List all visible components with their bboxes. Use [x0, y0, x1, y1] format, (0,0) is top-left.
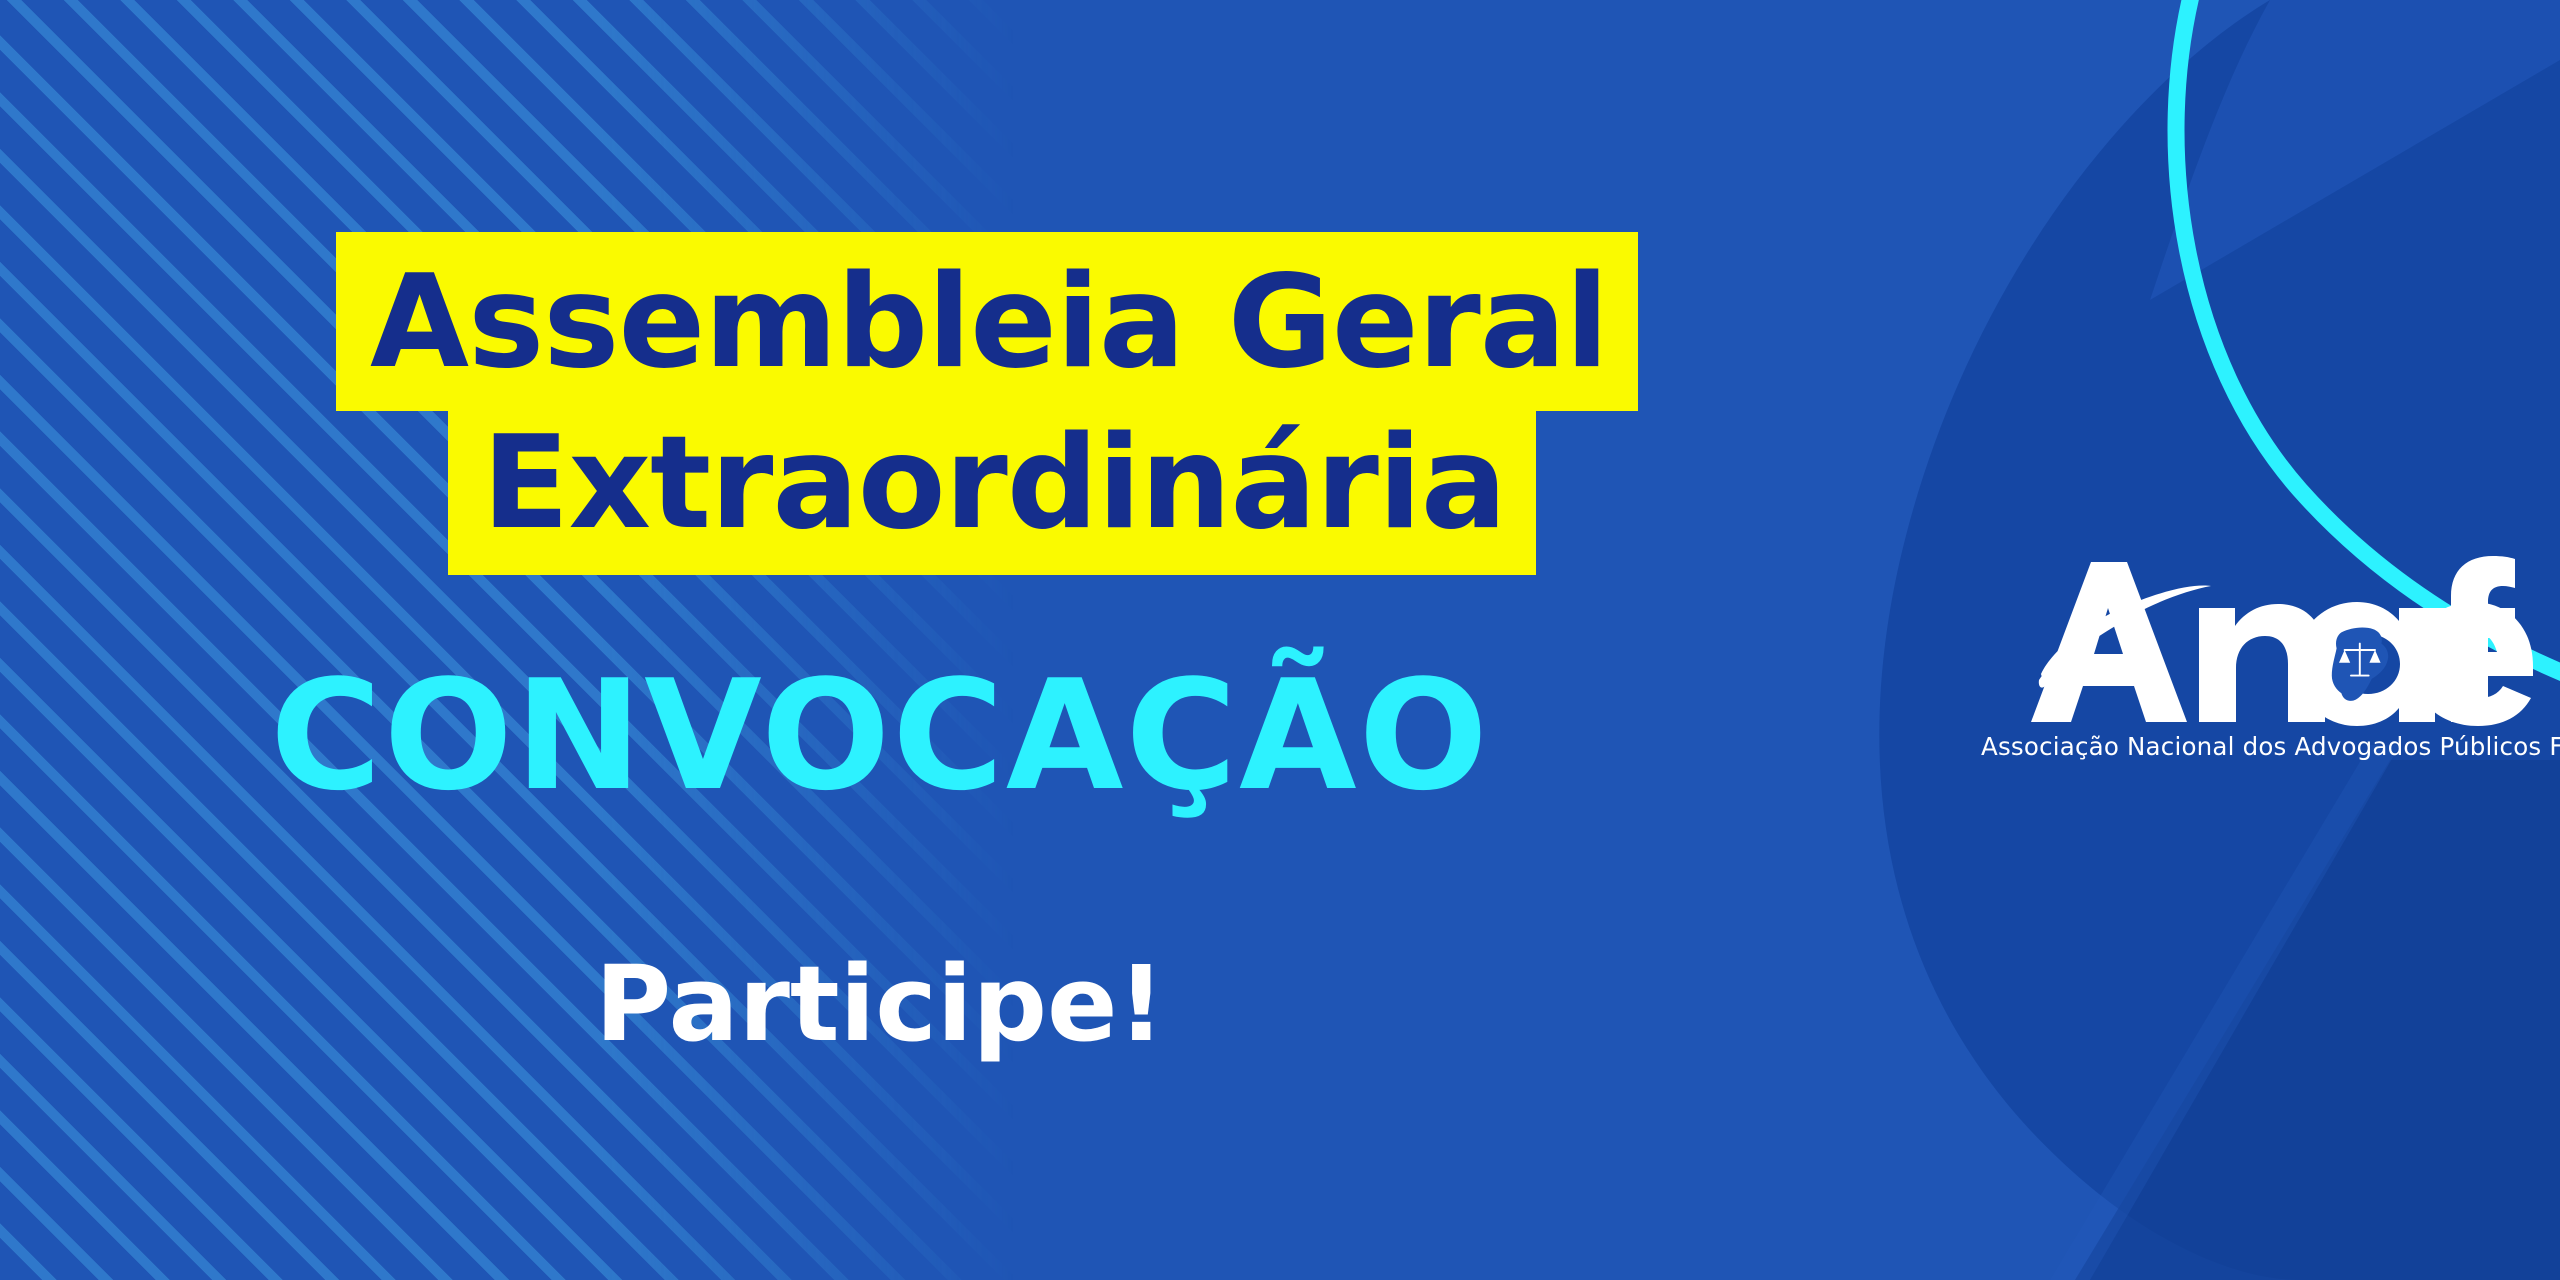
brazil-map-scales-icon: [2332, 628, 2388, 701]
headline-line-1: Assembleia Geral: [336, 232, 1638, 411]
anafe-logo: Associação Nacional dos Advogados Públic…: [1975, 556, 2535, 786]
headline-line-1-row: Assembleia Geral: [0, 232, 1820, 411]
event-announcement-banner: Assembleia Geral Extraordinária CONVOCAÇ…: [0, 0, 2560, 1280]
subtitle-convocacao: CONVOCAÇÃO: [0, 660, 1760, 812]
letter-a-capital: [2031, 562, 2187, 722]
background-diagonal-stripes: [0, 0, 1300, 1280]
anafe-wordmark-icon: [1975, 556, 2535, 736]
headline-line-2: Extraordinária: [448, 397, 1536, 576]
headline-line-2-row: Extraordinária: [0, 411, 1820, 576]
anafe-tagline: Associação Nacional dos Advogados Públic…: [1981, 732, 2529, 761]
call-to-action-participe: Participe!: [0, 952, 1760, 1056]
headline-group: Assembleia Geral Extraordinária: [0, 232, 1820, 575]
letter-e: [2413, 602, 2533, 726]
